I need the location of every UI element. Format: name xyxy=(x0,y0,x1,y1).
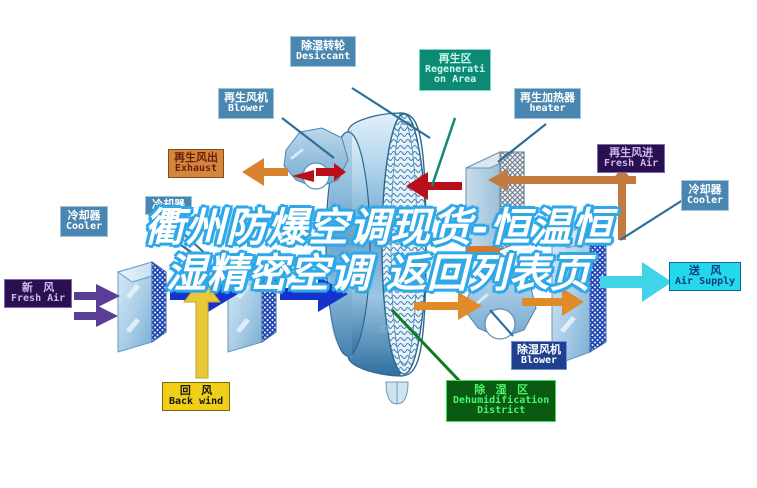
label-air-supply-en: Air Supply xyxy=(675,277,735,288)
leader-line-regen-area xyxy=(432,118,455,186)
label-cooler-left-outer: 冷却器 Cooler xyxy=(60,206,108,237)
label-back-wind-en: Back wind xyxy=(169,397,223,408)
label-dehumidify-blower: 除湿风机 Blower xyxy=(511,341,567,370)
label-desiccant-cn: 除湿转轮 xyxy=(296,40,350,52)
label-regeneration-area-en2: on Area xyxy=(425,75,485,86)
rotor-watermark: xt xyxy=(378,320,390,336)
regeneration-blower-fan xyxy=(284,128,348,189)
label-cooler-left-inner: 冷却器 xyxy=(145,196,192,215)
cooler-coil-left-inner xyxy=(228,262,276,352)
label-exhaust-en: Exhaust xyxy=(174,164,218,175)
label-desiccant: 除湿转轮 Desiccant xyxy=(290,36,356,67)
label-regeneration-area-cn: 再生区 xyxy=(425,53,485,65)
label-cooler-right: 冷却器 Cooler xyxy=(681,180,729,211)
regeneration-heater-block xyxy=(466,152,524,262)
label-regeneration-fresh-air: 再生风进 Fresh Air xyxy=(597,144,665,173)
label-regeneration-blower: 再生风机 Blower xyxy=(218,88,274,119)
label-regeneration-area: 再生区 Regenerati on Area xyxy=(419,49,491,91)
label-cooler-left-outer-cn: 冷却器 xyxy=(66,210,102,222)
label-air-supply-cn: 送 风 xyxy=(675,265,735,277)
label-exhaust: 再生风出 Exhaust xyxy=(168,149,224,178)
label-cooler-left-outer-en: Cooler xyxy=(66,222,102,233)
dehumidifier-schematic xyxy=(0,0,757,488)
label-regeneration-heater-en: heater xyxy=(520,104,575,115)
cooler-coil-left-outer xyxy=(118,262,166,352)
arrow-fresh-air-intake xyxy=(74,284,120,327)
label-regeneration-heater: 再生加热器 heater xyxy=(514,88,581,119)
label-dehumidification-district: 除 湿 区 Dehumidification District xyxy=(446,380,556,422)
arrow-air-supply xyxy=(600,262,672,302)
label-exhaust-cn: 再生风出 xyxy=(174,152,218,164)
label-fresh-air-intake-cn: 新 风 xyxy=(11,282,65,294)
arrow-regen-fresh-air-vertical xyxy=(610,168,634,240)
label-dehumidification-district-cn: 除 湿 区 xyxy=(453,384,549,396)
label-fresh-air-intake-en: Fresh Air xyxy=(11,294,65,305)
label-cooler-right-en: Cooler xyxy=(687,196,723,207)
label-dehumidification-district-en2: District xyxy=(453,406,549,417)
label-back-wind-cn: 回 风 xyxy=(169,385,223,397)
label-cooler-right-cn: 冷却器 xyxy=(687,184,723,196)
label-dehumidify-blower-cn: 除湿风机 xyxy=(517,344,561,356)
label-cooler-left-inner-cn: 冷却器 xyxy=(152,199,185,211)
label-dehumidify-blower-en: Blower xyxy=(517,356,561,367)
label-regeneration-fresh-air-en: Fresh Air xyxy=(604,159,658,170)
leader-line-cooler-left xyxy=(160,212,210,258)
label-regeneration-fresh-air-cn: 再生风进 xyxy=(604,147,658,159)
arrow-exhaust xyxy=(242,158,288,186)
label-regeneration-blower-cn: 再生风机 xyxy=(224,92,268,104)
label-back-wind: 回 风 Back wind xyxy=(162,382,230,411)
label-desiccant-en: Desiccant xyxy=(296,52,350,63)
diagram-canvas: xt 除湿转轮 Desiccant 再生风机 Blower 再生风出 Exhau… xyxy=(0,0,757,488)
label-air-supply: 送 风 Air Supply xyxy=(669,262,741,291)
label-regeneration-blower-en: Blower xyxy=(224,104,268,115)
label-fresh-air-intake: 新 风 Fresh Air xyxy=(4,279,72,308)
label-regeneration-heater-cn: 再生加热器 xyxy=(520,92,575,104)
